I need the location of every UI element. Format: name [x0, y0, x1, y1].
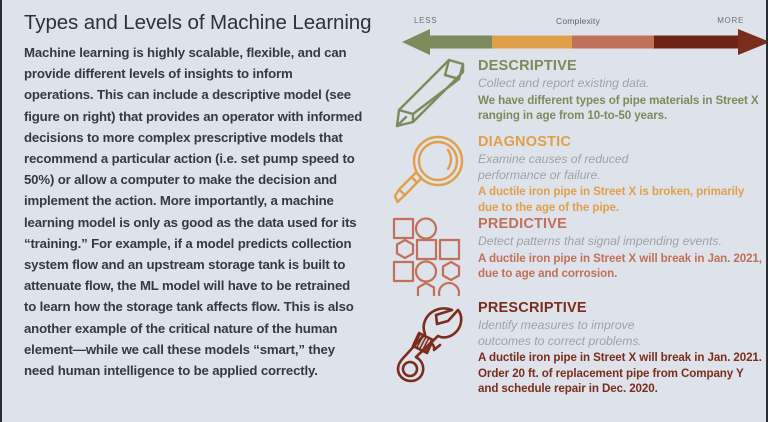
- right-arrow-head: [738, 29, 768, 55]
- infographic-panel: Types and Levels of Machine Learning Mac…: [0, 0, 768, 422]
- descriptive-segment: [428, 36, 492, 49]
- level-title-diagnostic: DIAGNOSTIC: [478, 134, 762, 151]
- level-item-predictive: PREDICTIVE Detect patterns that signal i…: [386, 216, 768, 298]
- level-item-descriptive: DESCRIPTIVE Collect and report existing …: [386, 58, 768, 132]
- level-subtitle-descriptive: Collect and report existing data.: [478, 76, 762, 92]
- complexity-scale: LESS Complexity MORE: [394, 16, 762, 58]
- maturity-diagram-column: LESS Complexity MORE: [386, 0, 768, 422]
- level-text-prescriptive: PRESCRIPTIVE Identify measures to improv…: [478, 300, 768, 397]
- level-example-predictive: A ductile iron pipe in Street X will bre…: [478, 251, 762, 282]
- diagnostic-segment: [492, 36, 572, 49]
- level-title-prescriptive: PRESCRIPTIVE: [478, 300, 762, 317]
- scale-label-more: MORE: [717, 16, 744, 25]
- level-subtitle-predictive: Detect patterns that signal impending ev…: [478, 234, 762, 250]
- level-text-descriptive: DESCRIPTIVE Collect and report existing …: [478, 58, 768, 124]
- page-title: Types and Levels of Machine Learning: [24, 10, 364, 36]
- level-example-prescriptive: A ductile iron pipe in Street X will bre…: [478, 350, 762, 397]
- level-item-diagnostic: DIAGNOSTIC Examine causes of reduced per…: [386, 134, 768, 214]
- scale-label-complexity: Complexity: [556, 16, 600, 26]
- level-example-diagnostic: A ductile iron pipe in Street X is broke…: [478, 184, 762, 215]
- scale-gradient-bar: [394, 29, 762, 55]
- wrench-icon: [386, 300, 478, 386]
- body-paragraph: Machine learning is highly scalable, fle…: [24, 42, 364, 381]
- level-title-descriptive: DESCRIPTIVE: [478, 58, 762, 75]
- level-text-diagnostic: DIAGNOSTIC Examine causes of reduced per…: [478, 134, 768, 215]
- predictive-segment: [572, 36, 654, 49]
- scale-label-less: LESS: [414, 16, 437, 25]
- level-subtitle-prescriptive: Identify measures to improve outcomes to…: [478, 318, 688, 349]
- levels-list: DESCRIPTIVE Collect and report existing …: [386, 58, 768, 392]
- level-item-prescriptive: PRESCRIPTIVE Identify measures to improv…: [386, 300, 768, 390]
- pencil-icon: [386, 58, 478, 130]
- level-text-predictive: PREDICTIVE Detect patterns that signal i…: [478, 216, 768, 282]
- article-column: Types and Levels of Machine Learning Mac…: [2, 0, 386, 422]
- level-example-descriptive: We have different types of pipe material…: [478, 93, 762, 124]
- prescriptive-segment: [654, 36, 740, 49]
- level-title-predictive: PREDICTIVE: [478, 216, 762, 233]
- shapes-pattern-icon: [386, 216, 478, 296]
- level-subtitle-diagnostic: Examine causes of reduced performance or…: [478, 152, 678, 183]
- left-arrow-head: [402, 29, 430, 55]
- magnifying-glass-icon: [386, 134, 478, 212]
